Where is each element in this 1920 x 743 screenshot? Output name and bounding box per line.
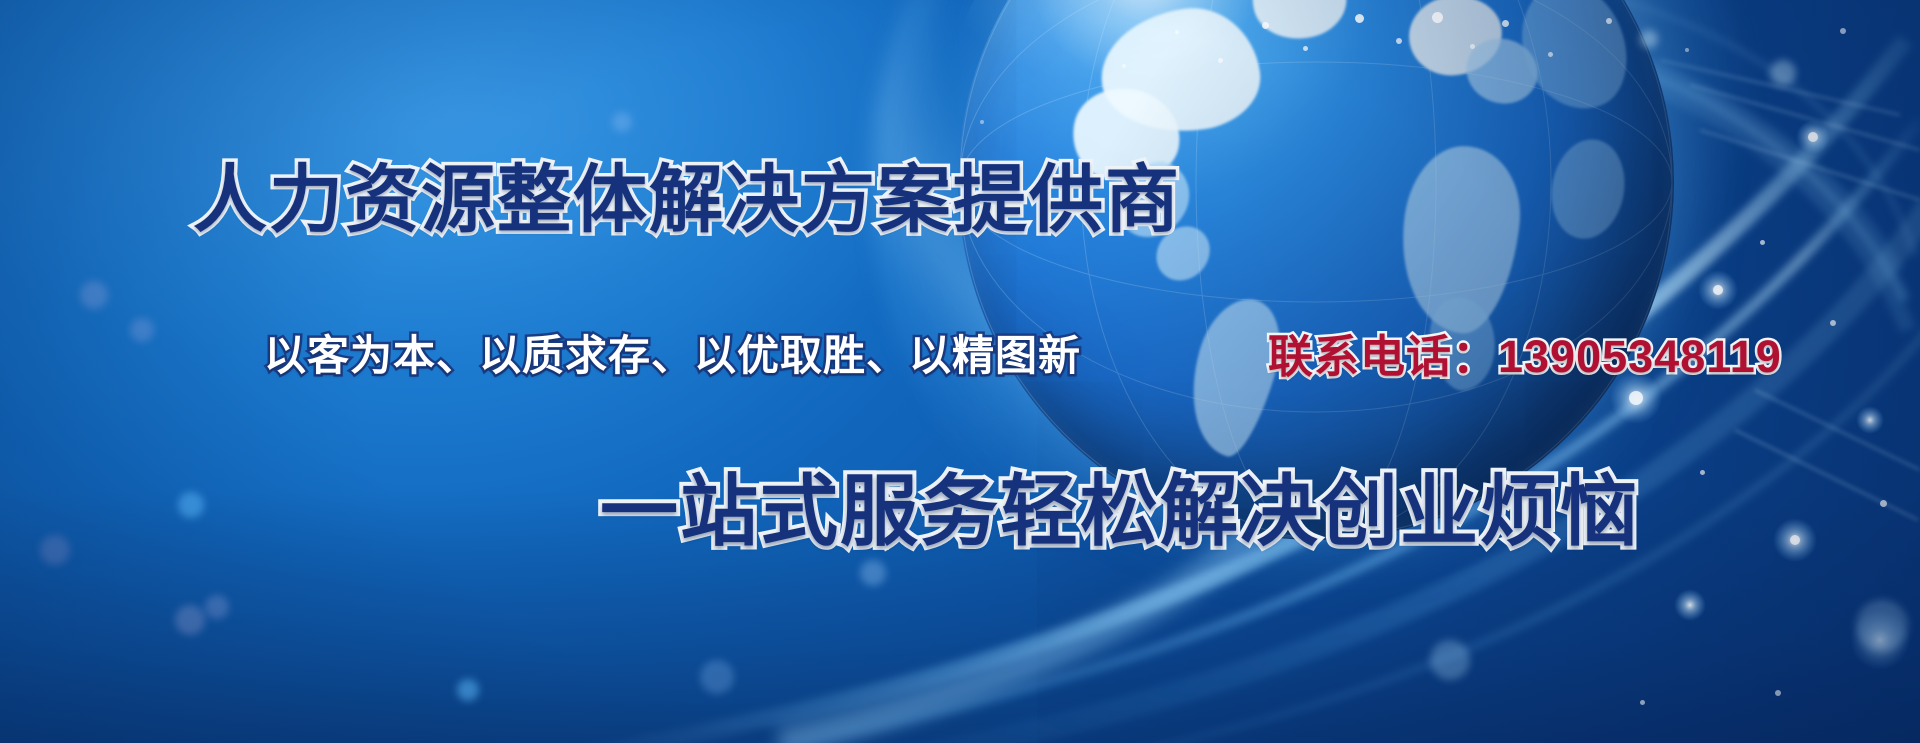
contact-phone[interactable]: 联系电话：13905348119 — [1268, 320, 1782, 385]
banner-headline: 人力资源整体解决方案提供商 — [193, 140, 1181, 247]
banner-tagline: 以客为本、以质求存、以优取胜、以精图新 — [264, 322, 1081, 383]
hr-services-banner: 人力资源整体解决方案提供商 以客为本、以质求存、以优取胜、以精图新 联系电话：1… — [0, 0, 1920, 743]
banner-bottom-slogan: 一站式服务轻松解决创业烦恼 — [600, 449, 1640, 561]
